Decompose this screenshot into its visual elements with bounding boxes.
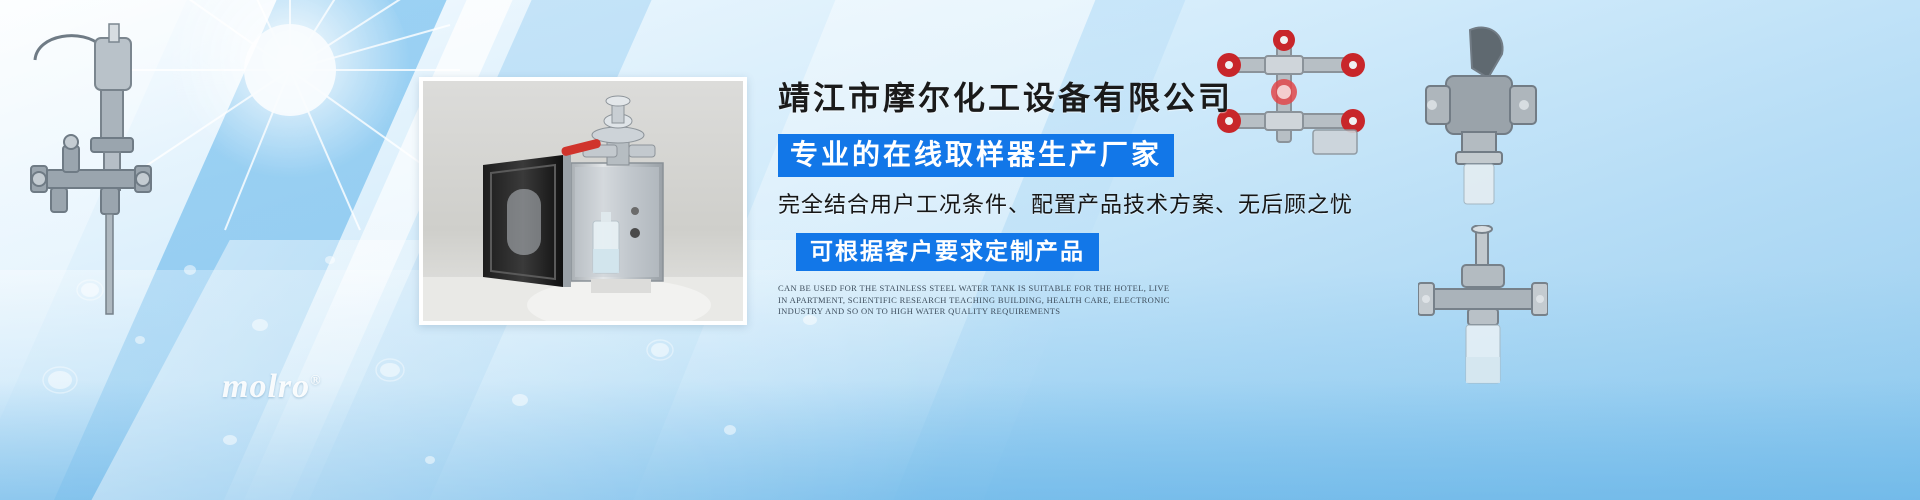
promo-banner: 靖江市摩尔化工设备有限公司 专业的在线取样器生产厂家 完全结合用户工况条件、配置… — [0, 0, 1920, 500]
cta-highlight: 可根据客户要求定制产品 — [796, 233, 1099, 271]
sub-headline: 完全结合用户工况条件、配置产品技术方案、无后顾之忧 — [778, 191, 1418, 219]
equipment-flange-valve-icon — [1410, 20, 1550, 210]
product-photo-image — [423, 81, 743, 321]
headline-highlight: 专业的在线取样器生产厂家 — [778, 134, 1174, 177]
watermark-registered-mark: ® — [310, 374, 321, 389]
sunburst-icon — [130, 0, 460, 240]
equipment-left-icon — [5, 20, 175, 330]
watermark-text: molro — [222, 368, 310, 405]
product-photo — [419, 77, 747, 325]
banner-text-block: 靖江市摩尔化工设备有限公司 专业的在线取样器生产厂家 完全结合用户工况条件、配置… — [778, 78, 1418, 318]
equipment-sampling-valve-icon — [1418, 225, 1548, 400]
company-name: 靖江市摩尔化工设备有限公司 — [778, 78, 1418, 118]
watermark-logo: molro® — [222, 368, 322, 406]
english-description: CAN BE USED FOR THE STAINLESS STEEL WATE… — [778, 283, 1173, 318]
